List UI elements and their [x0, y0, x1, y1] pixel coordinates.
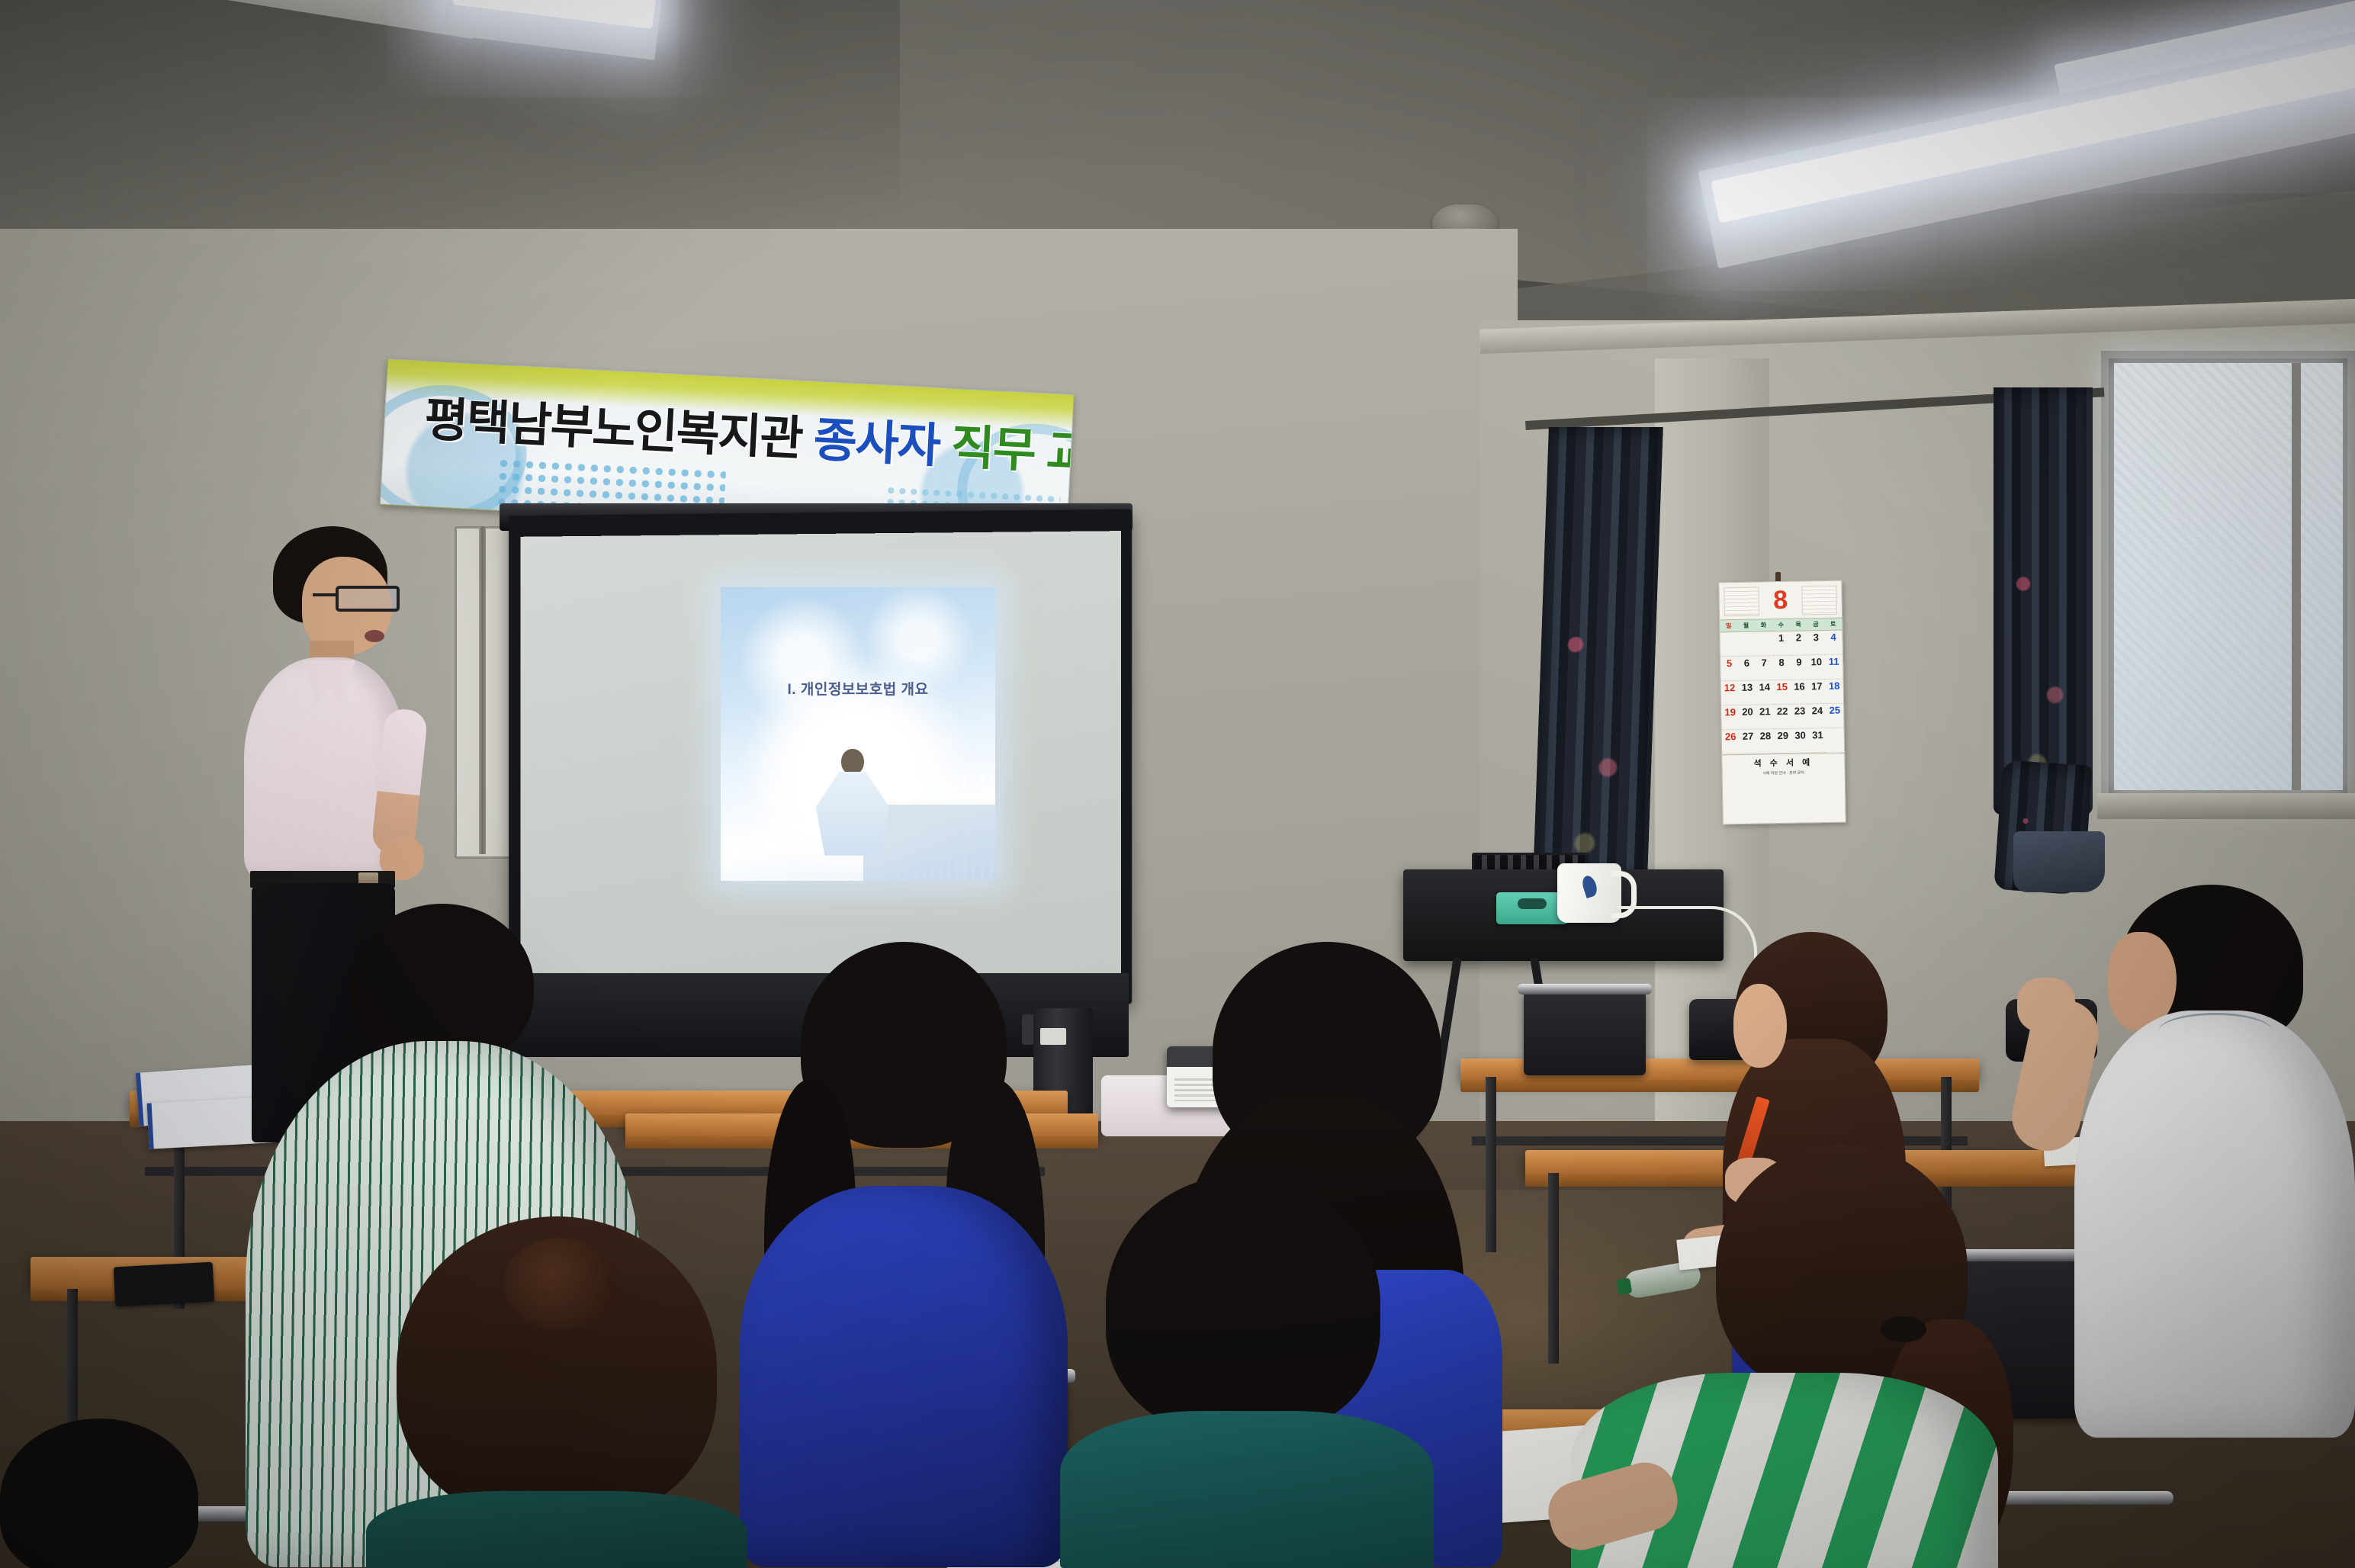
- hair-tie: [1881, 1316, 1926, 1342]
- audience-white-polo: [2074, 1011, 2355, 1438]
- calendar-blank-cell: [1720, 632, 1737, 657]
- calendar-day-23: 23: [1791, 704, 1808, 728]
- calendar-brand-text: 석 수 서 예: [1725, 756, 1841, 770]
- classroom-photo: 평택남부노인복지관 종사자 직무 교육 I. 개인정보보호법 개요 8 일월화수…: [0, 0, 2355, 1568]
- eyeglasses-icon: [336, 586, 400, 612]
- calendar-day-grid: 1234567891011121314151617181920212223242…: [1720, 631, 1844, 755]
- kettle-droplet-logo-icon: [1580, 874, 1599, 898]
- calendar-blank-cell: [1755, 631, 1772, 656]
- slide-figure-body: [816, 772, 889, 856]
- calendar-weekday-2: 화: [1755, 619, 1772, 631]
- calendar-day-22: 22: [1774, 705, 1791, 729]
- audience-hair: [1106, 1174, 1380, 1434]
- calendar-weekday-5: 금: [1807, 619, 1824, 630]
- calendar-day-3: 3: [1807, 631, 1825, 655]
- audience-member-bun-bottomleft: [351, 1216, 747, 1568]
- calendar-header: 8: [1719, 581, 1842, 620]
- audience-teal-top: [1060, 1411, 1434, 1568]
- audience-dark-top: [366, 1491, 747, 1568]
- calendar-day-19: 19: [1721, 705, 1739, 730]
- calendar-day-7: 7: [1756, 656, 1773, 680]
- curtain-left[interactable]: [1532, 427, 1663, 900]
- calendar-weekday-4: 목: [1790, 619, 1807, 630]
- audience-hair: [0, 1419, 198, 1568]
- chair-back-right[interactable]: [1524, 991, 1646, 1075]
- audience-member-white-polo: [2044, 885, 2355, 1434]
- audience-member-teal: [1014, 1174, 1441, 1568]
- calendar-day-11: 11: [1825, 655, 1843, 680]
- audience-fist: [2017, 978, 2075, 1033]
- calendar-day-25: 25: [1826, 704, 1843, 728]
- audience-member-partial-bottomleft: [0, 1419, 198, 1568]
- presenter-mouth: [365, 630, 384, 642]
- calendar-day-1: 1: [1772, 631, 1790, 656]
- calendar-day-18: 18: [1826, 680, 1843, 704]
- calendar-day-15: 15: [1773, 680, 1791, 705]
- calendar-mini-next-month: [1801, 586, 1837, 615]
- banner-segment-training: 직무 교육: [949, 421, 1075, 483]
- calendar-day-4: 4: [1825, 631, 1843, 655]
- calendar-day-17: 17: [1808, 680, 1826, 704]
- calendar-day-21: 21: [1756, 705, 1774, 729]
- hair-bun: [503, 1238, 618, 1329]
- wall-calendar: 8 일월화수목금토 123456789101112131415161718192…: [1718, 580, 1846, 825]
- calendar-day-10: 10: [1807, 655, 1825, 680]
- tissue-box-slot: [1518, 898, 1547, 909]
- calendar-day-6: 6: [1738, 657, 1756, 681]
- phone-case-left: [114, 1262, 215, 1307]
- projected-slide: I. 개인정보보호법 개요: [721, 587, 995, 881]
- banner-segment-staff: 종사자: [812, 413, 941, 473]
- calendar-day-2: 2: [1790, 631, 1807, 655]
- calendar-day-27: 27: [1739, 730, 1756, 754]
- calendar-day-9: 9: [1790, 655, 1807, 680]
- calendar-day-30: 30: [1791, 728, 1809, 753]
- slide-title-text: I. 개인정보보호법 개요: [721, 678, 995, 699]
- fluorescent-tube: [452, 0, 657, 29]
- calendar-day-5: 5: [1720, 657, 1738, 681]
- calendar-day-16: 16: [1791, 680, 1808, 704]
- calendar-day-12: 12: [1721, 681, 1739, 705]
- calendar-weekday-0: 일: [1720, 620, 1737, 631]
- calendar-day-8: 8: [1772, 656, 1790, 680]
- window-glass: [2114, 363, 2343, 790]
- calendar-day-14: 14: [1756, 680, 1773, 705]
- audience-face-profile: [1733, 984, 1787, 1068]
- calendar-blank-cell: [1737, 632, 1755, 657]
- calendar-day-20: 20: [1739, 705, 1756, 730]
- calendar-day-28: 28: [1756, 729, 1774, 753]
- calendar-mini-prev-month: [1724, 587, 1759, 617]
- calendar-day-24: 24: [1808, 704, 1826, 728]
- calendar-month-number: 8: [1773, 587, 1788, 613]
- slide-figure-head: [841, 749, 864, 775]
- calendar-weekday-1: 월: [1737, 620, 1755, 631]
- calendar-day-29: 29: [1774, 729, 1791, 753]
- calendar-day-26: 26: [1722, 730, 1740, 754]
- curtain-right[interactable]: [1994, 387, 2093, 815]
- calendar-day-13: 13: [1738, 681, 1756, 705]
- calendar-day-31: 31: [1809, 728, 1826, 753]
- calendar-footer-note: 서예 학원 안내 · 전화 문의: [1726, 770, 1842, 777]
- window-mullion: [2292, 363, 2301, 790]
- electric-kettle[interactable]: [1557, 863, 1621, 923]
- hanging-jacket: [2013, 831, 2105, 892]
- calendar-footer: 석 수 서 예 서예 학원 안내 · 전화 문의: [1722, 753, 1845, 779]
- slide-speaker-figure: [820, 749, 885, 881]
- calendar-weekday-6: 토: [1824, 619, 1842, 630]
- window-sill: [2097, 793, 2355, 819]
- calendar-weekday-3: 수: [1772, 619, 1790, 631]
- polo-collar-trim: [2158, 1013, 2273, 1050]
- screen-support-pole: [479, 526, 486, 854]
- chair-chrome-rail: [1518, 984, 1652, 994]
